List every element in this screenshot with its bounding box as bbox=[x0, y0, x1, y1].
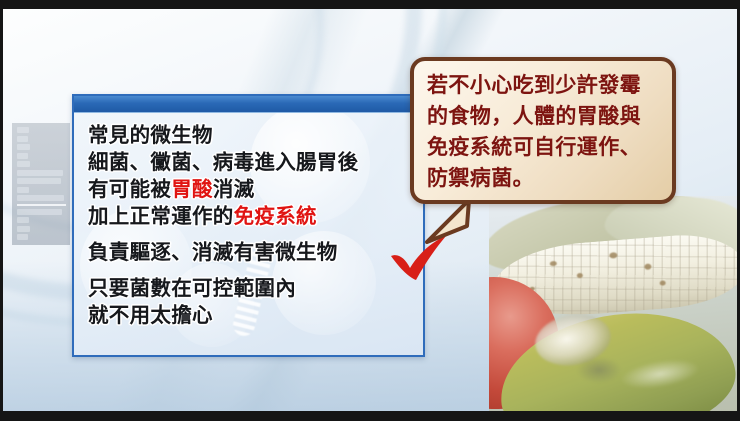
speech-bubble-line: 的食物，人體的胃酸與 bbox=[427, 101, 661, 132]
plain-term: 負責驅逐、消滅有害微生物 bbox=[88, 240, 338, 264]
info-panel-line: 只要菌數在可控範圍內 bbox=[88, 275, 423, 302]
list-row bbox=[17, 136, 28, 142]
left-list-overlay bbox=[12, 123, 70, 245]
food-photo bbox=[489, 196, 737, 411]
speech-bubble-line: 防禦病菌。 bbox=[427, 163, 661, 194]
mold-patch-secondary bbox=[577, 357, 621, 383]
info-panel-text: 常見的微生物細菌、黴菌、病毒進入腸胃後有可能被胃酸消滅加上正常運作的免疫系統負責… bbox=[88, 122, 423, 329]
list-row bbox=[17, 153, 28, 159]
info-panel-line: 常見的微生物 bbox=[88, 122, 423, 149]
info-panel-body: 常見的微生物細菌、黴菌、病毒進入腸胃後有可能被胃酸消滅加上正常運作的免疫系統負責… bbox=[74, 113, 423, 355]
info-panel-header bbox=[74, 96, 423, 113]
list-row bbox=[17, 161, 30, 167]
list-row bbox=[17, 217, 29, 223]
highlighted-term: 胃酸 bbox=[171, 177, 213, 201]
corn-blemish bbox=[550, 261, 557, 267]
speech-bubble-line: 若不小心吃到少許發霉 bbox=[427, 70, 661, 101]
speech-bubble-line: 免疫系統可自行運作、 bbox=[427, 132, 661, 163]
list-row bbox=[17, 187, 29, 193]
info-panel: 常見的微生物細菌、黴菌、病毒進入腸胃後有可能被胃酸消滅加上正常運作的免疫系統負責… bbox=[72, 94, 425, 357]
broadcast-frame: 常見的微生物細菌、黴菌、病毒進入腸胃後有可能被胃酸消滅加上正常運作的免疫系統負責… bbox=[0, 0, 740, 421]
plain-term: 只要菌數在可控範圍內 bbox=[88, 276, 296, 300]
list-row bbox=[17, 178, 61, 184]
plain-term: 就不用太擔心 bbox=[88, 303, 213, 327]
info-panel-line: 細菌、黴菌、病毒進入腸胃後 bbox=[88, 149, 423, 176]
letterbox-left bbox=[0, 0, 3, 421]
list-row bbox=[17, 144, 30, 150]
list-row bbox=[17, 195, 64, 201]
plain-term: 消滅 bbox=[213, 177, 255, 201]
list-row bbox=[17, 127, 29, 133]
info-panel-line: 有可能被胃酸消滅 bbox=[88, 176, 423, 203]
highlighted-term: 免疫系統 bbox=[234, 204, 317, 228]
corn-blemish bbox=[577, 273, 583, 278]
info-panel-line: 就不用太擔心 bbox=[88, 302, 423, 329]
list-row bbox=[17, 226, 30, 232]
text-group-gap bbox=[88, 266, 423, 275]
text-group-gap bbox=[88, 230, 423, 239]
corn-blemish bbox=[660, 280, 666, 285]
speech-bubble: 若不小心吃到少許發霉 的食物，人體的胃酸與 免疫系統可自行運作、 防禦病菌。 bbox=[410, 57, 676, 204]
list-row bbox=[17, 170, 63, 176]
list-row bbox=[17, 209, 62, 215]
info-panel-line: 加上正常運作的免疫系統 bbox=[88, 203, 423, 230]
letterbox-top bbox=[0, 0, 740, 9]
plain-term: 常見的微生物 bbox=[88, 123, 213, 147]
speech-bubble-tail bbox=[425, 198, 473, 244]
corn-blemish bbox=[644, 263, 651, 270]
plain-term: 有可能被 bbox=[88, 177, 171, 201]
plain-term: 加上正常運作的 bbox=[88, 204, 234, 228]
corn-blemish bbox=[609, 252, 617, 259]
list-separator bbox=[17, 204, 66, 206]
info-panel-line: 負責驅逐、消滅有害微生物 bbox=[88, 239, 423, 266]
letterbox-bottom bbox=[0, 411, 740, 421]
plain-term: 細菌、黴菌、病毒進入腸胃後 bbox=[88, 150, 358, 174]
list-row bbox=[17, 234, 28, 240]
